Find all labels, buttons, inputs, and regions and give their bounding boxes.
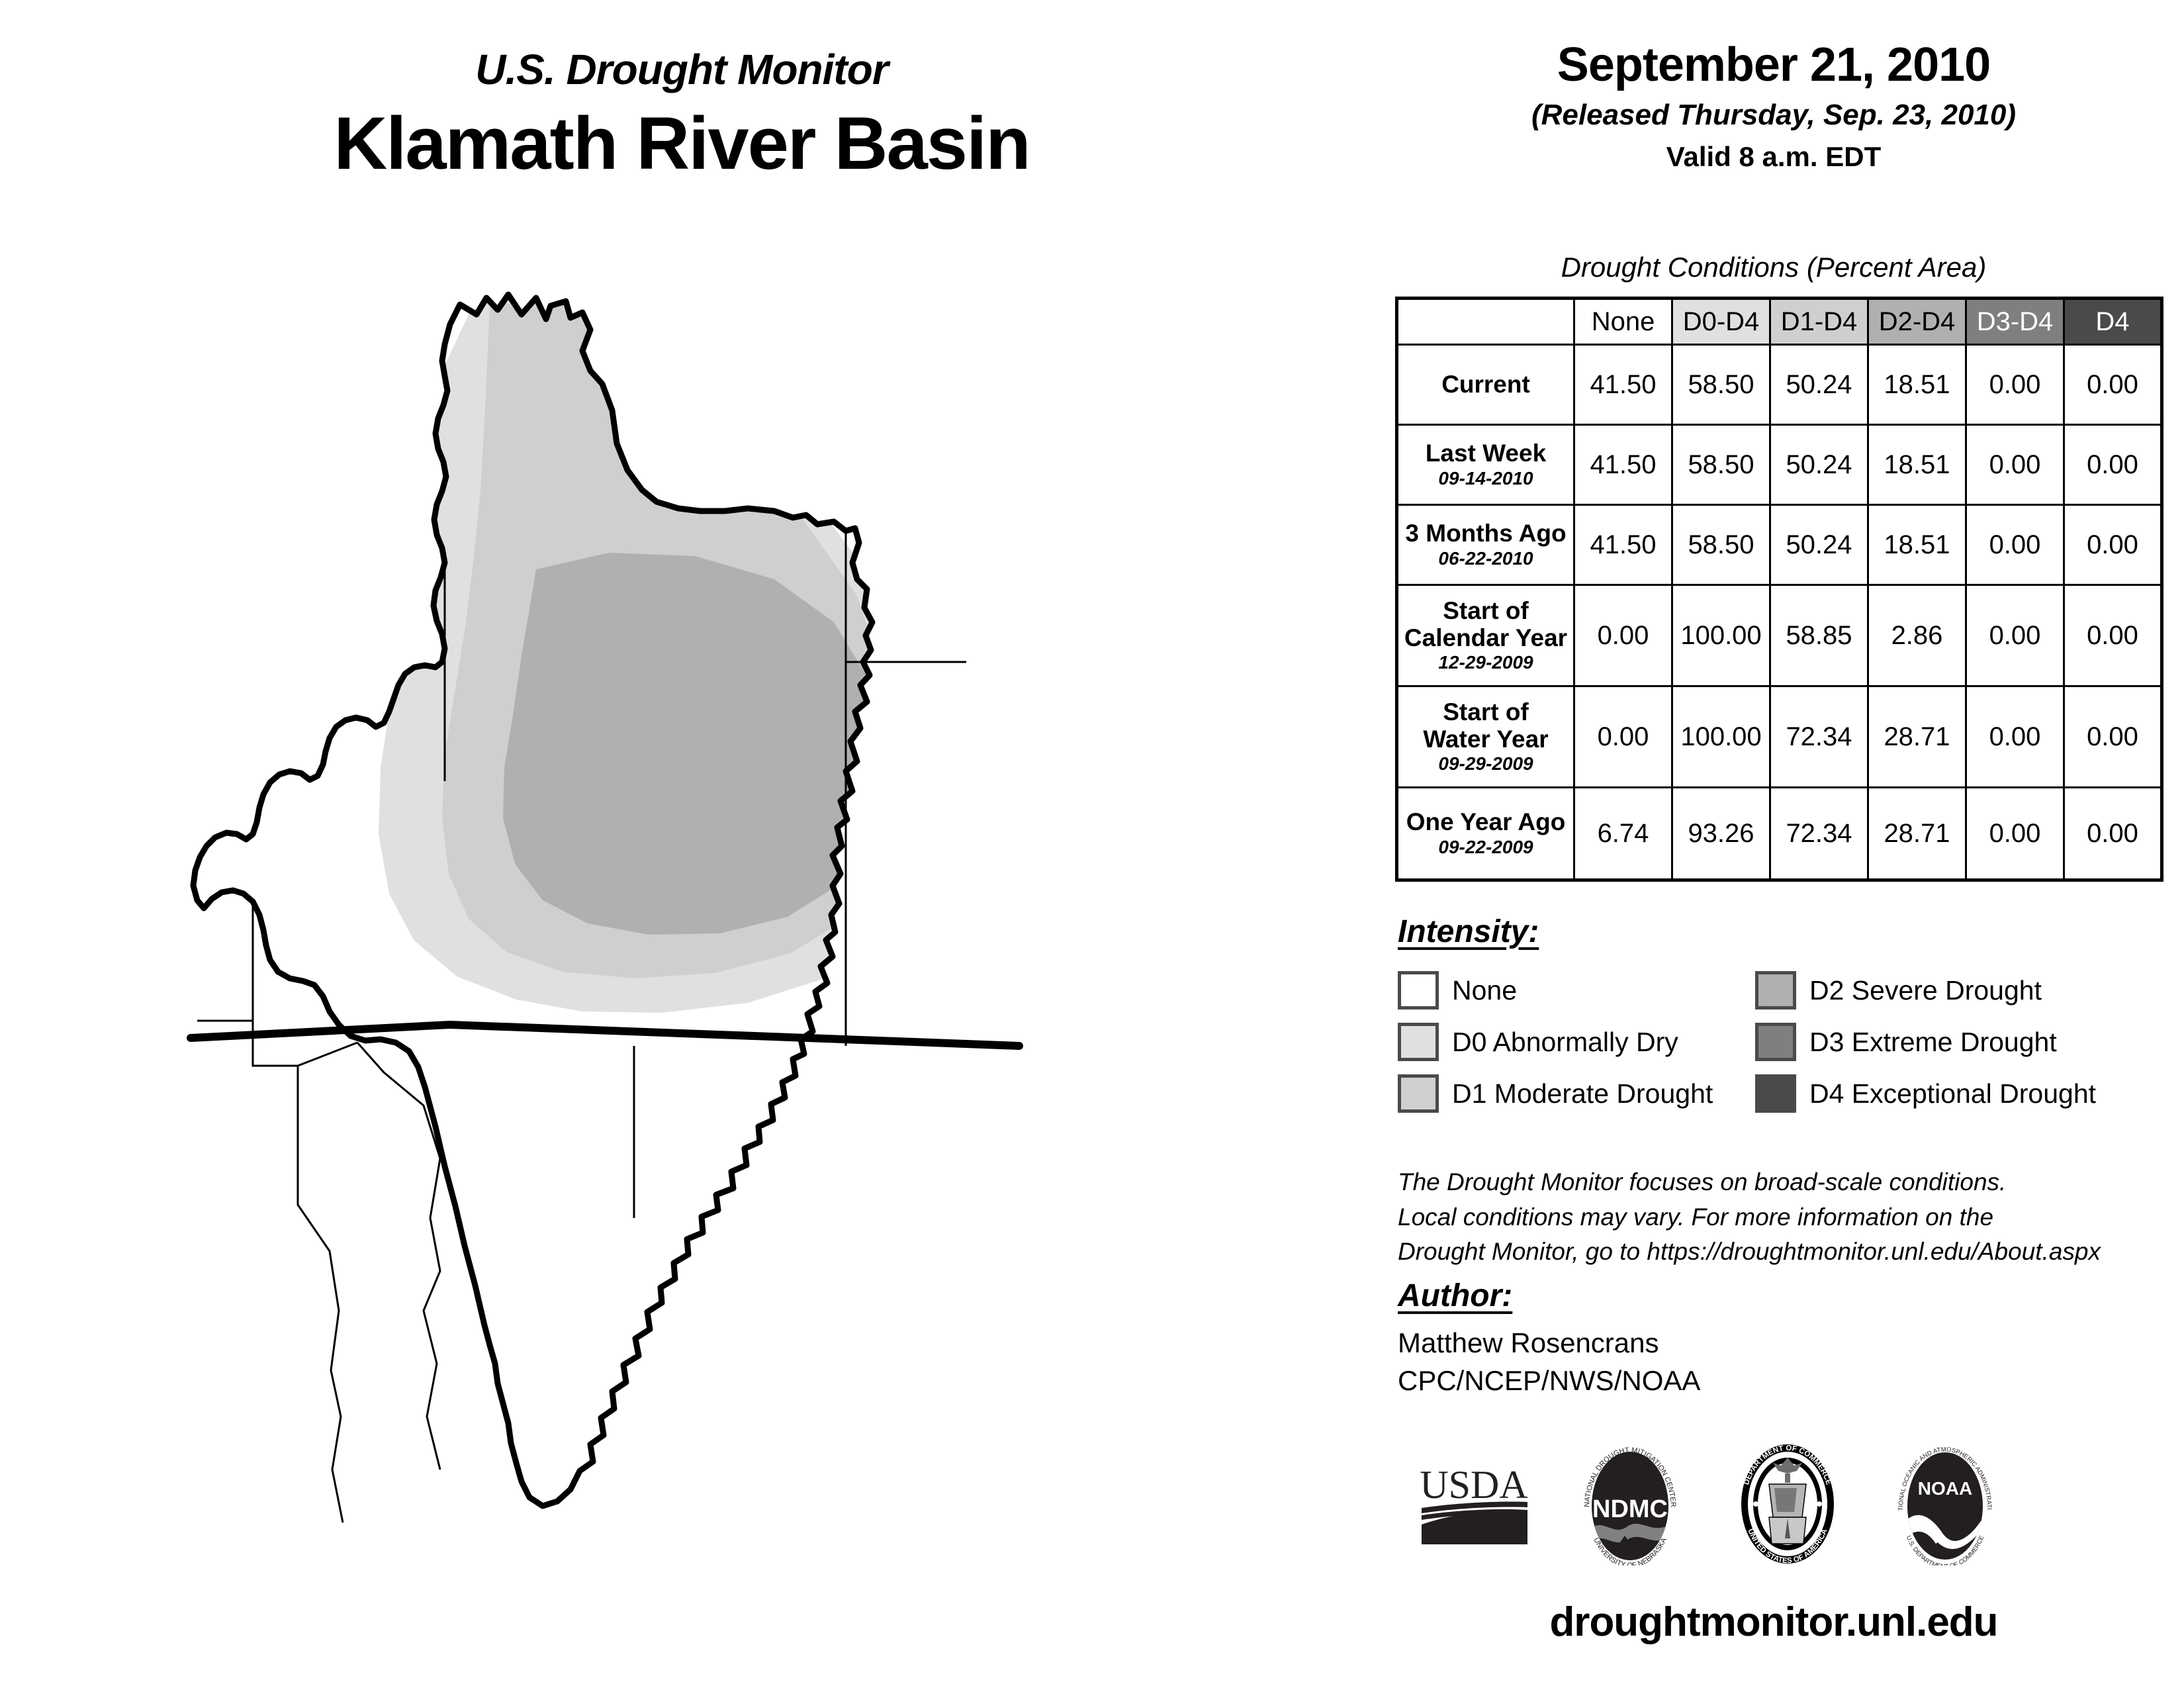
cell-oneyear-none: 6.74 [1574,788,1672,880]
legend-grid: None D2 Severe Drought D0 Abnormally Dry… [1398,964,2179,1119]
author-org: CPC/NCEP/NWS/NOAA [1398,1362,2179,1400]
valid-time: Valid 8 a.m. EDT [1363,140,2184,175]
cell-calyear-d3d4: 0.00 [1966,585,2064,686]
author-title: Author: [1398,1278,1512,1314]
table-row: Current 41.50 58.50 50.24 18.51 0.00 0.0… [1397,345,2162,425]
disclaimer: The Drought Monitor focuses on broad-sca… [1398,1165,2179,1270]
legend-label-d4: D4 Exceptional Drought [1809,1080,2096,1107]
cell-calyear-d1d4: 58.85 [1770,585,1868,686]
table-row: One Year Ago 09-22-2009 6.74 93.26 72.34… [1397,788,2162,880]
cell-current-d2d4: 18.51 [1868,345,1966,425]
row-label-text: Last Week [1426,440,1546,467]
cell-current-d4: 0.00 [2064,345,2162,425]
disclaimer-line-3: Drought Monitor, go to https://droughtmo… [1398,1235,2179,1270]
release-date: (Released Thursday, Sep. 23, 2010) [1363,97,2184,133]
report-date: September 21, 2010 [1363,40,2184,91]
col-header-d2-d4: D2-D4 [1868,299,1966,345]
cell-calyear-d0d4: 100.00 [1672,585,1770,686]
disclaimer-line-1: The Drought Monitor focuses on broad-sca… [1398,1165,2179,1200]
row-label-current: Current [1397,345,1574,425]
ndmc-logo-text: NDMC [1592,1495,1668,1523]
legend-item-d0: D0 Abnormally Dry [1398,1016,1749,1068]
legend-item-d3: D3 Extreme Drought [1755,1016,2126,1068]
row-label-date: 09-22-2009 [1402,837,1569,858]
cell-calyear-d4: 0.00 [2064,585,2162,686]
cell-3months-d2d4: 18.51 [1868,505,1966,585]
legend-item-d2: D2 Severe Drought [1755,964,2126,1016]
author-name: Matthew Rosencrans [1398,1325,2179,1362]
cell-oneyear-d3d4: 0.00 [1966,788,2064,880]
table-row: Start of Water Year 09-29-2009 0.00 100.… [1397,686,2162,788]
legend-item-none: None [1398,964,1749,1016]
cell-lastweek-d4: 0.00 [2064,425,2162,505]
cell-wateryear-d4: 0.00 [2064,686,2162,788]
cell-wateryear-d0d4: 100.00 [1672,686,1770,788]
row-label-text: Current [1441,371,1530,398]
row-label-3-months-ago: 3 Months Ago 06-22-2010 [1397,505,1574,585]
author-block: Author: Matthew Rosencrans CPC/NCEP/NWS/… [1398,1278,2179,1399]
map-svg[interactable] [79,278,1337,1536]
cell-lastweek-d3d4: 0.00 [1966,425,2064,505]
cell-lastweek-d0d4: 58.50 [1672,425,1770,505]
legend-label-d3: D3 Extreme Drought [1809,1029,2057,1056]
cell-3months-none: 41.50 [1574,505,1672,585]
legend-label-d0: D0 Abnormally Dry [1452,1029,1678,1056]
table-row: Start of Calendar Year 12-29-2009 0.00 1… [1397,585,2162,686]
cell-current-d1d4: 50.24 [1770,345,1868,425]
page-subtitle: U.S. Drought Monitor [0,46,1363,93]
table-caption: Drought Conditions (Percent Area) [1363,252,2184,283]
cell-lastweek-none: 41.50 [1574,425,1672,505]
table-row: 3 Months Ago 06-22-2010 41.50 58.50 50.2… [1397,505,2162,585]
cell-lastweek-d2d4: 18.51 [1868,425,1966,505]
intensity-title: Intensity: [1398,914,1539,950]
title-block: U.S. Drought Monitor Klamath River Basin [0,46,1363,185]
col-header-d3-d4: D3-D4 [1966,299,2064,345]
drought-map[interactable] [79,278,1337,1536]
cell-wateryear-d1d4: 72.34 [1770,686,1868,788]
cell-lastweek-d1d4: 50.24 [1770,425,1868,505]
table-header-row: None D0-D4 D1-D4 D2-D4 D3-D4 D4 [1397,299,2162,345]
ndmc-logo: NDMC NATIONAL DROUGHT MITIGATION CENTER … [1570,1443,1690,1569]
drought-conditions-table: None D0-D4 D1-D4 D2-D4 D3-D4 D4 Current … [1395,297,2163,882]
col-header-d1-d4: D1-D4 [1770,299,1868,345]
cell-current-d3d4: 0.00 [1966,345,2064,425]
map-panel: U.S. Drought Monitor Klamath River Basin [0,0,1363,1688]
swatch-d4-icon [1755,1074,1796,1113]
legend-label-d2: D2 Severe Drought [1809,977,2042,1004]
row-label-text: One Year Ago [1406,808,1566,835]
cell-3months-d0d4: 58.50 [1672,505,1770,585]
legend-label-d1: D1 Moderate Drought [1452,1080,1713,1107]
row-label-date: 06-22-2010 [1402,549,1569,569]
cell-3months-d4: 0.00 [2064,505,2162,585]
logo-row: USDA NDMC [1416,1440,2184,1572]
table-corner-cell [1397,299,1574,345]
swatch-d1-icon [1398,1074,1439,1113]
cell-calyear-d2d4: 2.86 [1868,585,1966,686]
row-label-date: 09-29-2009 [1402,754,1569,774]
noaa-logo-text: NOAA [1918,1478,1972,1499]
cell-wateryear-d2d4: 28.71 [1868,686,1966,788]
intensity-legend: Intensity: None D2 Severe Drought D0 Abn… [1398,914,2179,1119]
cell-oneyear-d2d4: 28.71 [1868,788,1966,880]
cell-wateryear-none: 0.00 [1574,686,1672,788]
legend-item-d1: D1 Moderate Drought [1398,1068,1749,1119]
col-header-d4: D4 [2064,299,2162,345]
usda-logo: USDA [1416,1458,1532,1554]
row-label-line2: Calendar Year [1404,624,1567,651]
swatch-d3-icon [1755,1023,1796,1061]
cell-oneyear-d1d4: 72.34 [1770,788,1868,880]
row-label-text: 3 Months Ago [1405,520,1566,547]
row-label-last-week: Last Week 09-14-2010 [1397,425,1574,505]
swatch-d2-icon [1755,971,1796,1009]
noaa-logo: NOAA NATIONAL OCEANIC AND ATMOSPHERIC AD… [1886,1443,2005,1569]
info-panel: September 21, 2010 (Released Thursday, S… [1363,0,2184,1688]
legend-item-d4: D4 Exceptional Drought [1755,1068,2126,1119]
swatch-d0-icon [1398,1023,1439,1061]
doc-logo: DEPARTMENT OF COMMERCE UNITED STATES OF … [1728,1443,1847,1569]
cell-3months-d1d4: 50.24 [1770,505,1868,585]
row-label-line1: Start of [1443,597,1529,624]
row-label-line1: Start of [1443,698,1529,726]
table-row: Last Week 09-14-2010 41.50 58.50 50.24 1… [1397,425,2162,505]
col-header-none: None [1574,299,1672,345]
swatch-none-icon [1398,971,1439,1009]
row-label-line2: Water Year [1423,726,1548,753]
row-label-date: 12-29-2009 [1402,653,1569,673]
cell-oneyear-d4: 0.00 [2064,788,2162,880]
col-header-d0-d4: D0-D4 [1672,299,1770,345]
date-block: September 21, 2010 (Released Thursday, S… [1363,40,2184,174]
cell-oneyear-d0d4: 93.26 [1672,788,1770,880]
cell-wateryear-d3d4: 0.00 [1966,686,2064,788]
usda-logo-text: USDA [1420,1463,1527,1507]
disclaimer-line-2: Local conditions may vary. For more info… [1398,1200,2179,1235]
cell-calyear-none: 0.00 [1574,585,1672,686]
page-title: Klamath River Basin [0,102,1363,185]
cell-current-d0d4: 58.50 [1672,345,1770,425]
row-label-date: 09-14-2010 [1402,469,1569,489]
cell-3months-d3d4: 0.00 [1966,505,2064,585]
row-label-start-water-year: Start of Water Year 09-29-2009 [1397,686,1574,788]
row-label-one-year-ago: One Year Ago 09-22-2009 [1397,788,1574,880]
row-label-start-calendar-year: Start of Calendar Year 12-29-2009 [1397,585,1574,686]
legend-label-none: None [1452,977,1517,1004]
cell-current-none: 41.50 [1574,345,1672,425]
site-url[interactable]: droughtmonitor.unl.edu [1363,1599,2184,1646]
